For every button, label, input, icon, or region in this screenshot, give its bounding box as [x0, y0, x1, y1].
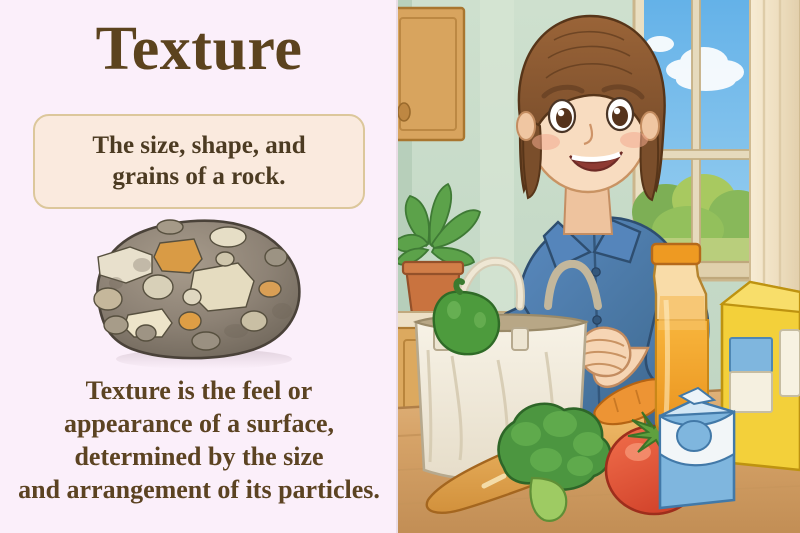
ear	[517, 112, 535, 140]
milk-carton-dot-icon	[677, 421, 711, 451]
definition-panel: Texture The size, shape, and grains of a…	[0, 0, 398, 533]
window-mullion-vertical	[692, 0, 700, 266]
shirt-button	[593, 316, 601, 324]
illustration-panel	[398, 0, 800, 533]
wall-cabinet	[398, 8, 464, 140]
carton-label	[780, 330, 800, 396]
definition-box: The size, shape, and grains of a rock.	[33, 114, 365, 209]
eye-right	[607, 98, 633, 130]
definition-text: The size, shape, and grains of a rock.	[80, 131, 317, 192]
body-text: Texture is the feel or appearance of a s…	[8, 374, 390, 506]
bottle-cap	[652, 244, 700, 264]
cabinet-knob-icon	[398, 103, 410, 121]
cheek-blush	[620, 132, 648, 148]
shirt-button	[592, 268, 600, 276]
bottle-highlight	[666, 300, 668, 420]
eye-left	[549, 100, 575, 132]
carton-white-band	[730, 372, 772, 412]
page-title: Texture	[0, 18, 398, 80]
kitchen-scene	[398, 0, 800, 533]
conglomerate-rock-illustration	[86, 213, 312, 373]
bag-handle-tab	[512, 328, 528, 350]
right-hand	[580, 328, 630, 376]
curtain	[750, 0, 800, 302]
cheek-blush	[532, 134, 560, 150]
infographic-card: Texture The size, shape, and grains of a…	[0, 0, 800, 533]
panel-divider	[396, 0, 398, 533]
carton-blue-band	[730, 338, 772, 372]
